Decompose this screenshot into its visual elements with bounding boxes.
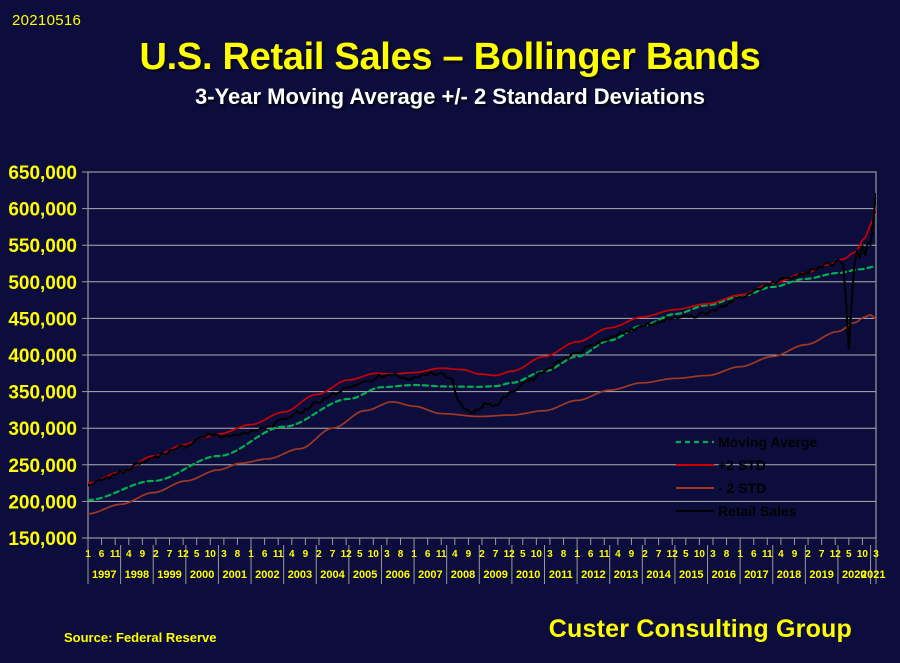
x-axis-month-label: 6 [588, 549, 594, 560]
x-axis-month-label: 6 [99, 549, 105, 560]
x-axis-year-label: 2009 [483, 569, 507, 581]
x-axis-month-label: 7 [330, 549, 336, 560]
x-axis-month-label: 2 [642, 549, 648, 560]
y-axis-tick-label: 600,000 [8, 200, 77, 221]
legend-item[interactable]: - 2 STD [676, 480, 766, 496]
x-axis-year-label: 2015 [679, 569, 703, 581]
y-axis-tick-label: 350,000 [8, 383, 77, 404]
x-axis-month-label: 2 [479, 549, 485, 560]
x-axis-month-label: 4 [452, 549, 458, 560]
x-axis-month-label: 12 [341, 549, 353, 560]
chart-legend[interactable]: Moving Averge+2 STD- 2 STDRetail Sales [676, 434, 818, 519]
legend-item[interactable]: Moving Averge [676, 434, 818, 450]
x-axis-month-label: 8 [235, 549, 241, 560]
x-axis-year-label: 1997 [92, 569, 116, 581]
x-axis-month-label: 12 [178, 549, 190, 560]
x-axis-month-label: 6 [425, 549, 431, 560]
x-axis-month-label: 11 [273, 549, 284, 560]
date-stamp: 20210516 [12, 12, 81, 29]
y-axis-tick-label: 200,000 [8, 492, 77, 513]
x-axis-year-label: 1998 [125, 569, 149, 581]
x-axis-year-label: 2012 [581, 569, 605, 581]
x-axis-month-label: 1 [411, 549, 417, 560]
x-axis-month-label: 5 [194, 549, 200, 560]
x-axis-month-label: 3 [384, 549, 390, 560]
x-axis-month-label: 5 [683, 549, 689, 560]
x-axis-month-label: 4 [615, 549, 621, 560]
x-axis-month-label: 2 [805, 549, 811, 560]
x-axis-month-label: 12 [830, 549, 842, 560]
x-axis-month-label: 11 [762, 549, 773, 560]
x-axis-month-label: 10 [694, 549, 706, 560]
x-axis-month-label: 4 [126, 549, 132, 560]
legend-label: Retail Sales [718, 503, 797, 519]
y-axis-tick-label: 400,000 [8, 346, 77, 367]
x-axis-month-label: 3 [547, 549, 553, 560]
y-axis-tick-label: 250,000 [8, 456, 77, 477]
x-axis-year-label: 2003 [288, 569, 312, 581]
x-axis-year-label: 2010 [516, 569, 540, 581]
page-subtitle: 3-Year Moving Average +/- 2 Standard Dev… [0, 84, 900, 110]
y-axis-labels: 650,000600,000550,000500,000450,000400,0… [8, 163, 77, 550]
x-axis-month-label: 5 [520, 549, 526, 560]
x-axis-year-label: 2007 [418, 569, 442, 581]
bollinger-bands-chart: 650,000600,000550,000500,000450,000400,0… [0, 150, 900, 600]
slide-root: 20210516 U.S. Retail Sales – Bollinger B… [0, 0, 900, 663]
legend-item[interactable]: +2 STD [676, 457, 766, 473]
x-axis-month-label: 7 [819, 549, 825, 560]
x-axis-year-label: 2004 [320, 569, 345, 581]
x-axis-year-label: 2002 [255, 569, 279, 581]
x-axis-month-label: 8 [561, 549, 567, 560]
x-axis-month-label: 6 [751, 549, 757, 560]
x-axis-year-label: 2019 [809, 569, 833, 581]
x-axis-month-label: 11 [599, 549, 610, 560]
source-note: Source: Federal Reserve [64, 630, 216, 645]
legend-label: Moving Averge [718, 434, 818, 450]
x-axis-month-label: 12 [667, 549, 679, 560]
x-axis-month-label: 8 [398, 549, 404, 560]
x-axis-month-label: 2 [153, 549, 159, 560]
x-axis-month-label: 1 [85, 549, 91, 560]
x-axis-month-label: 3 [710, 549, 716, 560]
page-title: U.S. Retail Sales – Bollinger Bands [0, 36, 900, 79]
x-axis-month-label: 9 [629, 549, 635, 560]
x-axis-year-label: 2001 [222, 569, 246, 581]
chart-container: 650,000600,000550,000500,000450,000400,0… [0, 150, 900, 600]
x-axis-year-label: 2017 [744, 569, 768, 581]
x-axis-year-label: 2014 [646, 569, 671, 581]
y-axis-tick-label: 300,000 [8, 419, 77, 440]
x-axis-month-label: 4 [289, 549, 295, 560]
x-axis-month-label: 9 [140, 549, 146, 560]
x-axis-month-label: 4 [778, 549, 784, 560]
x-axis-month-label: 8 [724, 549, 730, 560]
x-axis-month-label: 10 [205, 549, 217, 560]
x-axis-year-label: 2018 [777, 569, 801, 581]
x-axis-month-label: 1 [737, 549, 743, 560]
x-axis-month-label: 7 [493, 549, 499, 560]
x-axis-year-label: 2011 [549, 569, 573, 581]
x-axis-year-label: 2005 [353, 569, 377, 581]
x-axis-month-label: 9 [303, 549, 309, 560]
x-axis-month-label: 9 [466, 549, 472, 560]
x-axis-year-label: 2016 [712, 569, 736, 581]
x-axis-year-label: 2013 [614, 569, 638, 581]
x-axis-month-label: 7 [167, 549, 173, 560]
x-axis-month-label: 12 [504, 549, 516, 560]
y-axis-tick-label: 650,000 [8, 163, 77, 184]
x-axis-month-label: 9 [792, 549, 798, 560]
legend-label: - 2 STD [718, 480, 766, 496]
x-axis-month-labels: 1611492712510381611492712510381611492712… [85, 549, 879, 560]
x-axis-year-label: 2008 [451, 569, 475, 581]
x-axis-year-label: 2021 [861, 569, 885, 581]
x-axis-month-label: 10 [531, 549, 543, 560]
x-axis-year-label: 1999 [157, 569, 181, 581]
x-axis-month-label: 6 [262, 549, 268, 560]
x-axis-month-label: 2 [316, 549, 322, 560]
y-axis-tick-label: 450,000 [8, 309, 77, 330]
legend-label: +2 STD [718, 457, 766, 473]
y-axis-tick-label: 150,000 [8, 529, 77, 550]
x-axis-year-label: 2000 [190, 569, 214, 581]
x-axis-month-label: 7 [656, 549, 662, 560]
y-axis-tick-label: 550,000 [8, 236, 77, 257]
x-axis-year-labels: 1997199819992000200120022003200420052006… [92, 569, 885, 581]
x-axis-month-label: 3 [221, 549, 227, 560]
x-axis-month-label: 10 [368, 549, 380, 560]
x-axis-month-label: 11 [110, 549, 121, 560]
x-axis-month-label: 1 [248, 549, 254, 560]
legend-item[interactable]: Retail Sales [676, 503, 797, 519]
y-axis-tick-label: 500,000 [8, 273, 77, 294]
x-axis-year-label: 2006 [386, 569, 410, 581]
brand-label: Custer Consulting Group [549, 615, 852, 644]
x-axis-month-label: 1 [574, 549, 580, 560]
x-axis-month-label: 5 [846, 549, 852, 560]
x-axis-month-label: 3 [873, 549, 879, 560]
x-axis-month-label: 5 [357, 549, 363, 560]
x-axis-month-label: 10 [857, 549, 869, 560]
x-axis-month-label: 11 [436, 549, 447, 560]
